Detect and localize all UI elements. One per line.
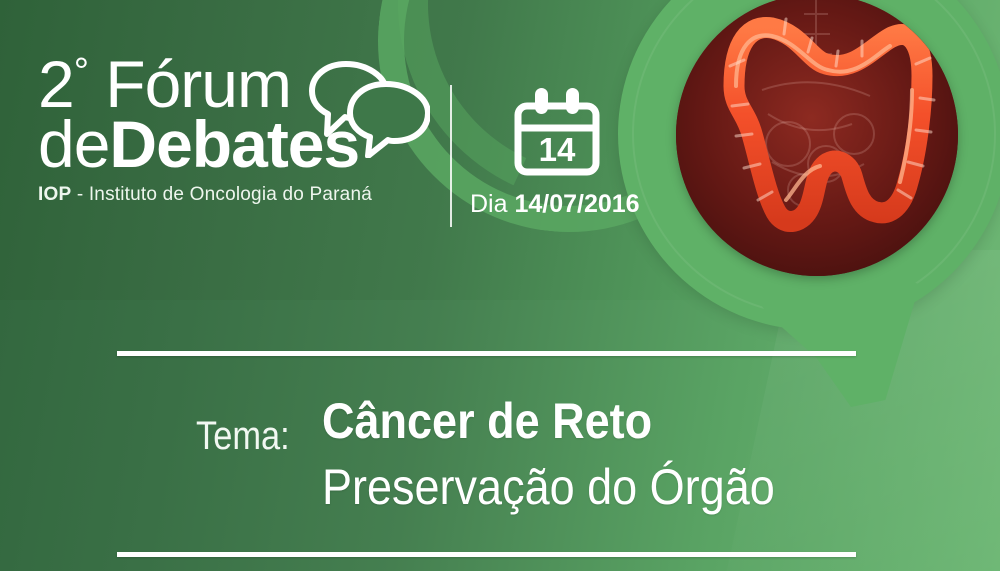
event-date-label: Dia: [470, 190, 514, 218]
logo-subtitle-rest: - Instituto de Oncologia do Paraná: [71, 184, 372, 205]
logo-ordinal-mark: °: [74, 51, 88, 93]
logo-word-de: de: [38, 107, 109, 181]
colon-illustration: [676, 0, 958, 276]
divider-bottom: [117, 552, 856, 557]
speech-bubbles-icon: [300, 58, 430, 158]
theme-title-line1: Câncer de Reto: [322, 392, 652, 450]
event-date-value: 14/07/2016: [514, 190, 639, 218]
theme-title-line2: Preservação do Órgão: [322, 458, 775, 516]
logo-subtitle-acronym: IOP: [38, 184, 71, 205]
event-date: Dia 14/07/2016: [470, 190, 730, 219]
calendar-day-number: 14: [539, 131, 576, 168]
vertical-divider: [450, 85, 452, 227]
event-banner: 2° Fórum deDebates IOP - Instituto de On…: [0, 0, 1000, 571]
theme-label: Tema:: [196, 414, 290, 459]
divider-top: [117, 351, 856, 356]
calendar-icon: 14: [508, 86, 608, 182]
logo-subtitle: IOP - Instituto de Oncologia do Paraná: [38, 184, 438, 206]
